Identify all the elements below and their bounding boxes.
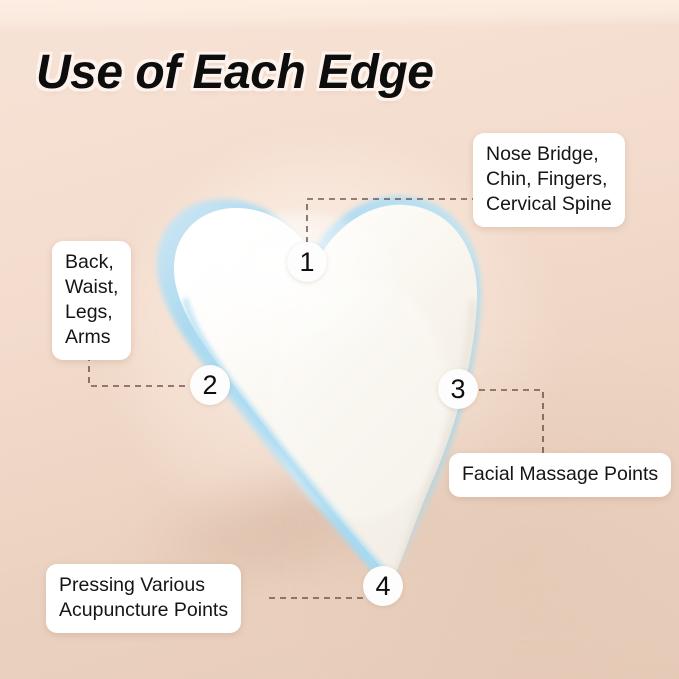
badge-number-2: 2 <box>190 365 230 405</box>
connector-line-3 <box>479 390 543 455</box>
infographic-canvas: Use of Each Edge <box>0 0 679 679</box>
badge-number-1: 1 <box>287 242 327 282</box>
badge-number-4: 4 <box>363 566 403 606</box>
callout-box-4: Pressing Various Acupuncture Points <box>46 564 241 633</box>
connector-line-1 <box>307 199 474 243</box>
callout-box-3: Facial Massage Points <box>449 453 671 497</box>
callout-box-2: Back, Waist, Legs, Arms <box>52 241 131 360</box>
badge-number-3: 3 <box>438 369 478 409</box>
callout-box-1: Nose Bridge, Chin, Fingers, Cervical Spi… <box>473 133 625 227</box>
